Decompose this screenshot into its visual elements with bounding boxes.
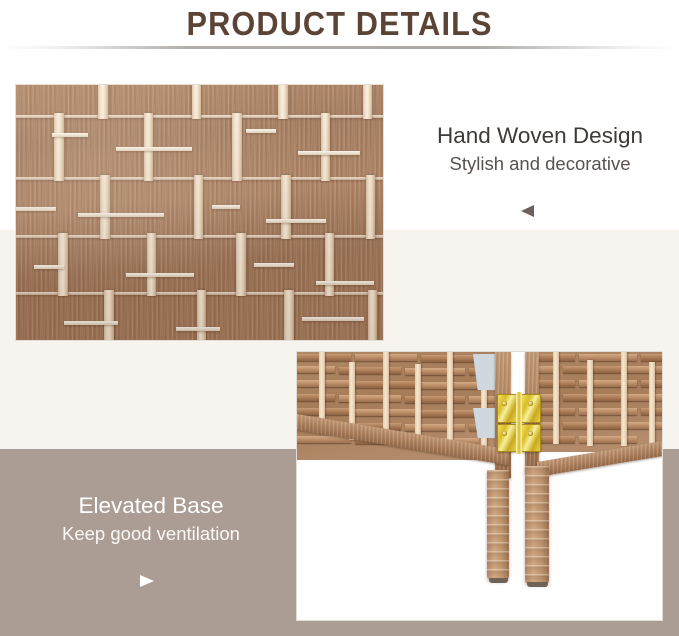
feature-subheading: Keep good ventilation [18, 522, 284, 546]
feature-subheading: Stylish and decorative [415, 152, 665, 176]
weave-brick [405, 396, 465, 403]
hinge-screw [502, 401, 507, 406]
weave-strip [104, 290, 114, 340]
feature-heading: Hand Woven Design [415, 122, 665, 150]
arrow-left-icon [521, 205, 534, 217]
weave-strip [325, 233, 334, 296]
hinge-screw [528, 431, 533, 436]
weave-gap [298, 151, 360, 155]
weave-vertical-bar [553, 352, 559, 444]
weave-gap [16, 207, 56, 211]
weave-brick [625, 394, 662, 401]
weave-strip [363, 85, 372, 119]
leg-foot-right [527, 582, 548, 587]
product-details-page: PRODUCT DETAILS [0, 0, 679, 636]
weave-strip [232, 113, 242, 181]
weave-brick [297, 394, 335, 401]
weave-gap [246, 129, 276, 133]
weave-strip [368, 290, 377, 340]
weave-vertical-bar [649, 362, 655, 446]
hinge-leaf-upper-right [521, 394, 541, 423]
weave-gap [78, 213, 164, 217]
weave-gap [116, 147, 192, 151]
page-title: PRODUCT DETAILS [186, 5, 492, 43]
weave-gap [266, 219, 326, 223]
weave-strip [236, 233, 246, 296]
weave-vertical-bar [319, 352, 325, 424]
screen-panel-right [525, 352, 662, 452]
weave-gap [316, 281, 374, 285]
weave-gap [254, 263, 294, 267]
weave-strip [197, 290, 206, 340]
photo-elevated-base [297, 352, 662, 620]
weave-gap [212, 205, 240, 209]
weave-gap [302, 317, 364, 321]
hinge-leaf-lower-left [497, 424, 517, 452]
brass-hinge [497, 394, 541, 452]
weave-strip [278, 85, 288, 119]
weave-strip [321, 113, 330, 181]
weave-strip [147, 233, 156, 296]
feature-heading: Elevated Base [18, 492, 284, 520]
weave-gap [52, 133, 88, 137]
screen-leg-left [487, 470, 509, 580]
weave-strip [100, 175, 110, 239]
weave-strip [54, 113, 64, 181]
weave-gap [176, 327, 220, 331]
header-divider [0, 46, 679, 49]
weave-brick [625, 422, 662, 429]
weave-gap [126, 273, 194, 277]
hinge-leaf-lower-right [521, 424, 541, 452]
weave-brick [625, 366, 662, 373]
weave-strip [192, 85, 201, 119]
weave-strip [98, 85, 108, 119]
hinge-screw [528, 401, 533, 406]
weave-brick [405, 424, 465, 431]
feature-elevated-base: Elevated Base Keep good ventilation [18, 492, 284, 546]
weave-strip [194, 175, 203, 239]
weave-strip [366, 175, 375, 239]
hinge-screw [502, 431, 507, 436]
weave-vertical-bar [447, 352, 453, 444]
weave-gap [64, 321, 118, 325]
arrow-right-icon [140, 575, 154, 587]
page-header: PRODUCT DETAILS [0, 0, 679, 48]
weave-brick [297, 366, 335, 373]
hinge-leaf-upper-left [497, 394, 517, 423]
weave-strip [284, 290, 294, 340]
photo-weave-closeup [16, 85, 383, 340]
weave-vertical-bar [621, 352, 627, 446]
base-photo-canvas [297, 352, 662, 620]
weave-vertical-bar [587, 360, 593, 446]
weave-strip [281, 175, 291, 239]
weave-vertical-bar [383, 352, 389, 440]
weave-gap [34, 265, 64, 269]
weave-brick [405, 368, 465, 375]
hinge-pin [516, 392, 522, 454]
screen-leg-right [525, 466, 549, 584]
weave-brick [641, 354, 662, 361]
feature-hand-woven-design: Hand Woven Design Stylish and decorative [415, 122, 665, 176]
leg-foot-left [489, 578, 508, 583]
